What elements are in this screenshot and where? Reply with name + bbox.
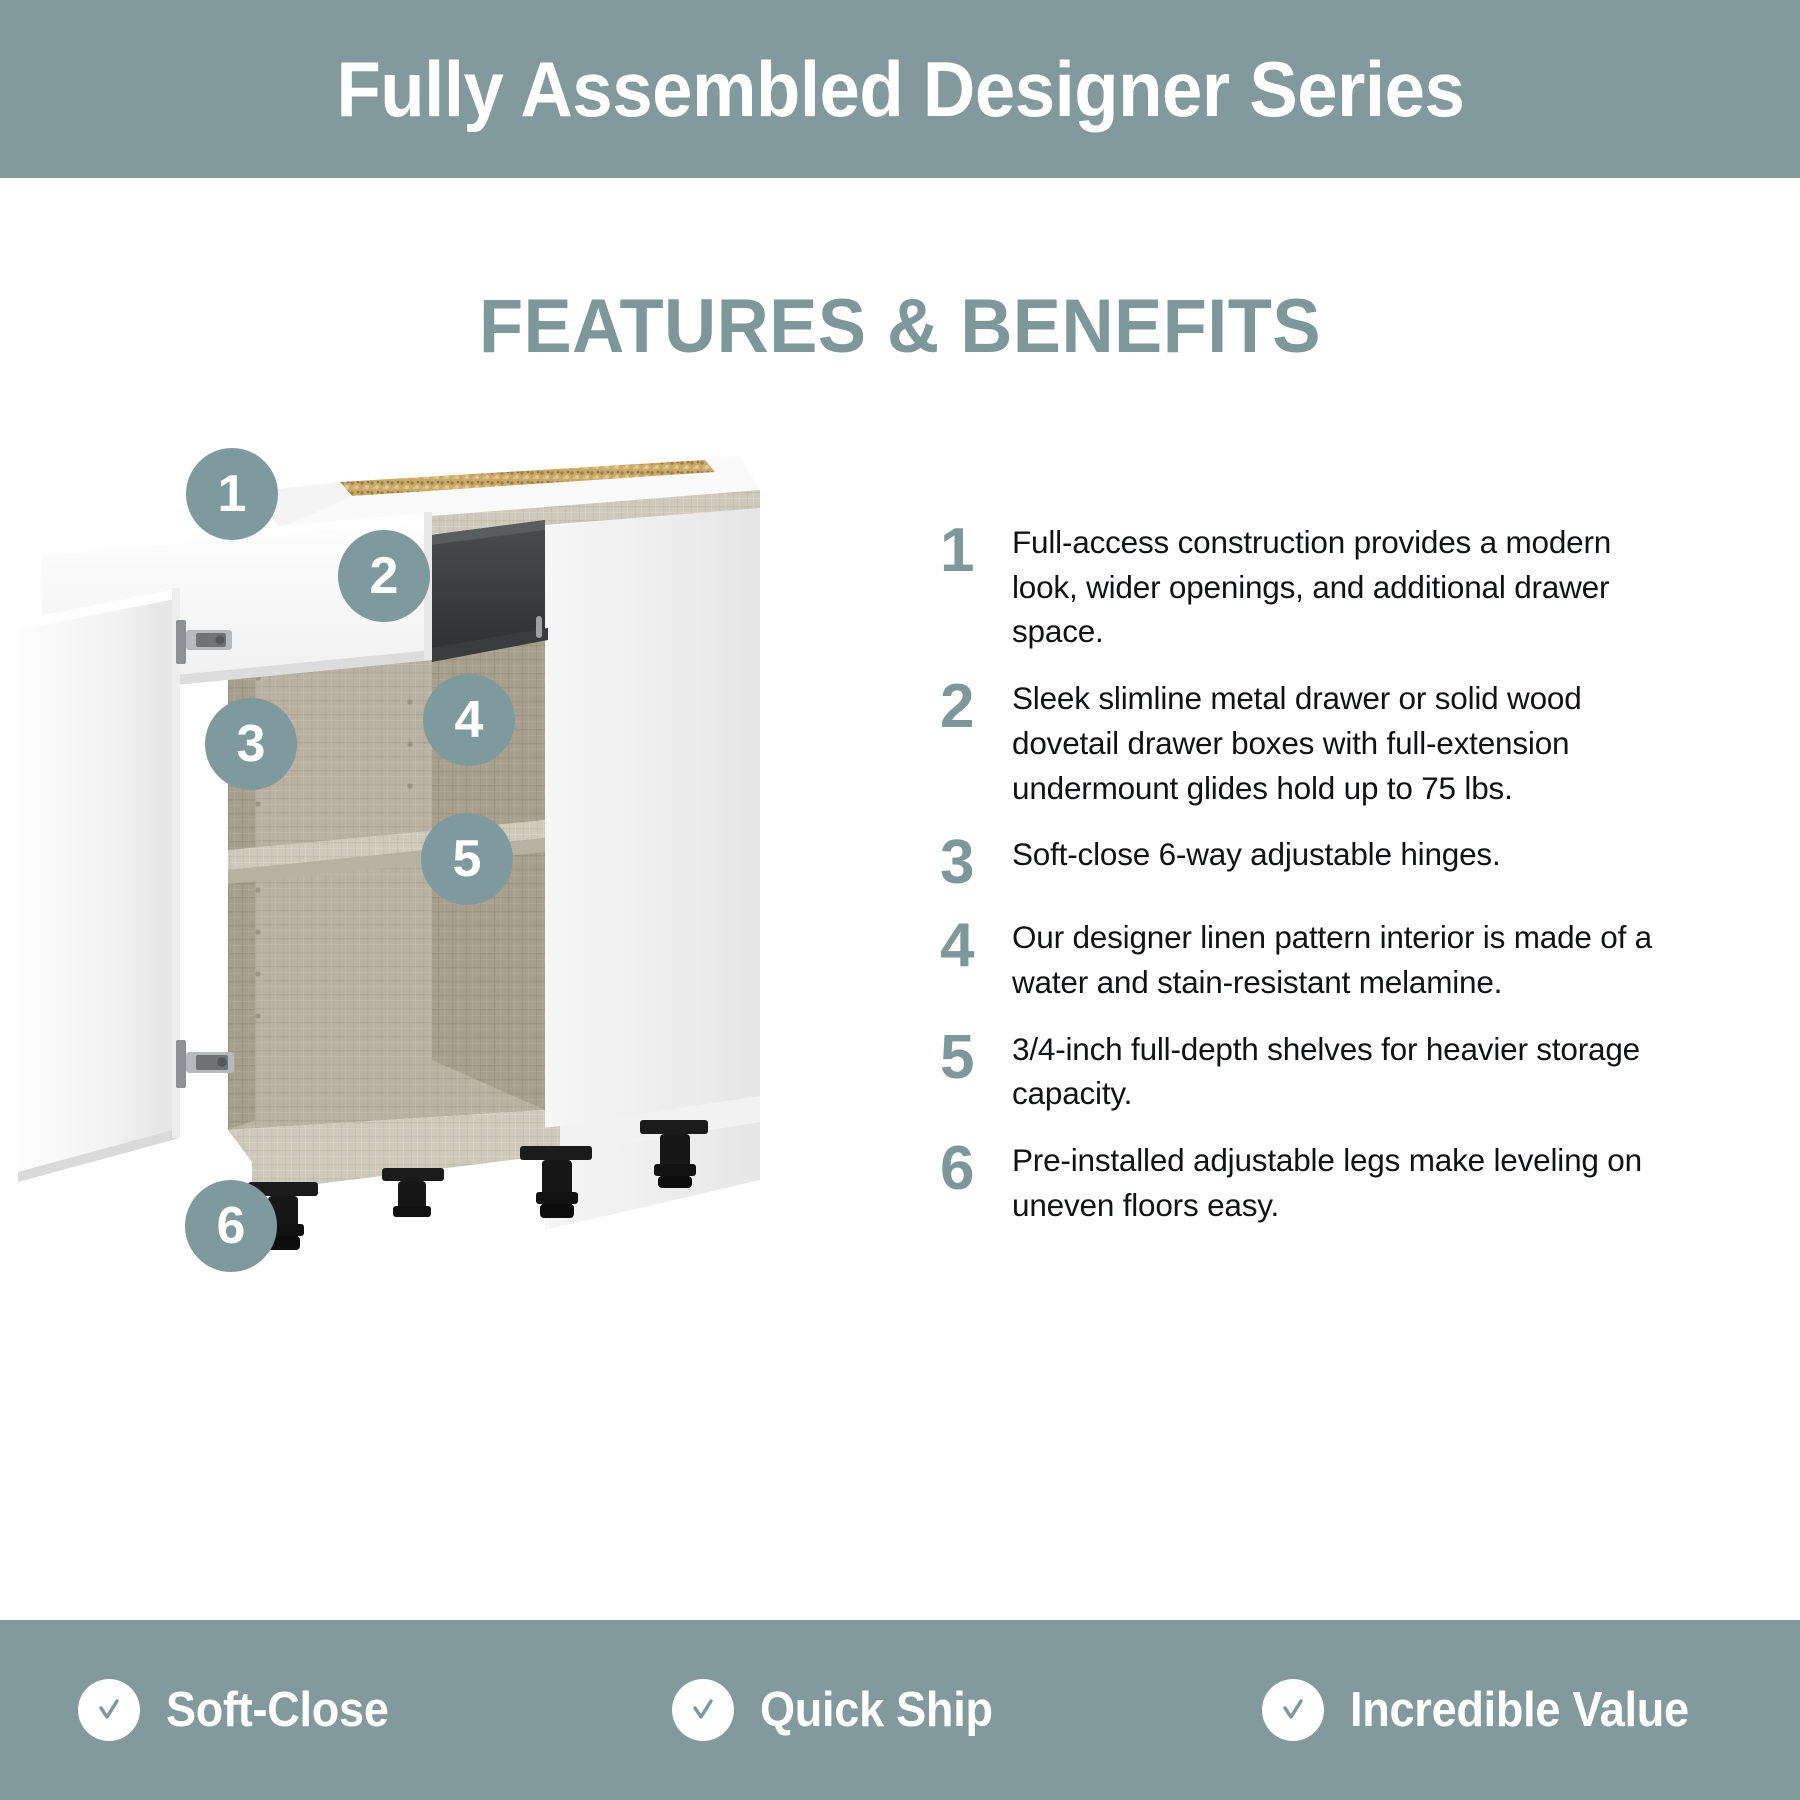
metal-drawer-box xyxy=(430,520,548,662)
feature-number: 2 xyxy=(940,676,1012,737)
feature-item: 3 Soft-close 6-way adjustable hinges. xyxy=(940,832,1660,893)
top-banner: Fully Assembled Designer Series xyxy=(0,0,1800,178)
feature-description: Sleek slimline metal drawer or solid woo… xyxy=(1012,676,1660,810)
check-icon xyxy=(78,1679,140,1741)
callout-badge-1[interactable]: 1 xyxy=(186,448,278,540)
bottom-banner: Soft-Close Quick Ship Incredible Value xyxy=(0,1620,1800,1800)
callout-badge-4[interactable]: 4 xyxy=(423,674,515,766)
feature-number: 4 xyxy=(940,915,1012,976)
footer-badge-label: Soft-Close xyxy=(166,1682,389,1738)
feature-item: 6 Pre-installed adjustable legs make lev… xyxy=(940,1138,1660,1227)
callout-badge-5[interactable]: 5 xyxy=(421,813,513,905)
feature-item: 5 3/4-inch full-depth shelves for heavie… xyxy=(940,1027,1660,1116)
cabinet-illustration xyxy=(0,420,900,1420)
feature-number: 1 xyxy=(940,520,1012,581)
feature-description: Soft-close 6-way adjustable hinges. xyxy=(1012,832,1660,877)
footer-badge-label: Quick Ship xyxy=(760,1682,993,1738)
feature-description: 3/4-inch full-depth shelves for heavier … xyxy=(1012,1027,1660,1116)
feature-description: Full-access construction provides a mode… xyxy=(1012,520,1660,654)
page-title: Fully Assembled Designer Series xyxy=(336,44,1464,135)
check-icon xyxy=(672,1679,734,1741)
feature-number: 5 xyxy=(940,1027,1012,1088)
callout-badge-6[interactable]: 6 xyxy=(185,1180,277,1272)
feature-item: 4 Our designer linen pattern interior is… xyxy=(940,915,1660,1004)
feature-description: Pre-installed adjustable legs make level… xyxy=(1012,1138,1660,1227)
callout-badge-3[interactable]: 3 xyxy=(205,698,297,790)
feature-description: Our designer linen pattern interior is m… xyxy=(1012,915,1660,1004)
footer-badge-incredible-value: Incredible Value xyxy=(1210,1679,1800,1741)
adjustable-leg xyxy=(382,1168,444,1217)
footer-badge-soft-close: Soft-Close xyxy=(0,1679,616,1741)
footer-badge-quick-ship: Quick Ship xyxy=(616,1679,1210,1741)
section-heading: FEATURES & BENEFITS xyxy=(45,283,1755,370)
callout-badge-2[interactable]: 2 xyxy=(338,530,430,622)
feature-number: 6 xyxy=(940,1138,1012,1199)
feature-item: 1 Full-access construction provides a mo… xyxy=(940,520,1660,654)
feature-item: 2 Sleek slimline metal drawer or solid w… xyxy=(940,676,1660,810)
footer-badge-label: Incredible Value xyxy=(1350,1682,1689,1738)
check-icon xyxy=(1262,1679,1324,1741)
feature-number: 3 xyxy=(940,832,1012,893)
door-hinge-lower xyxy=(176,1040,234,1088)
cabinet-door xyxy=(18,588,180,1182)
feature-list: 1 Full-access construction provides a mo… xyxy=(940,520,1660,1250)
